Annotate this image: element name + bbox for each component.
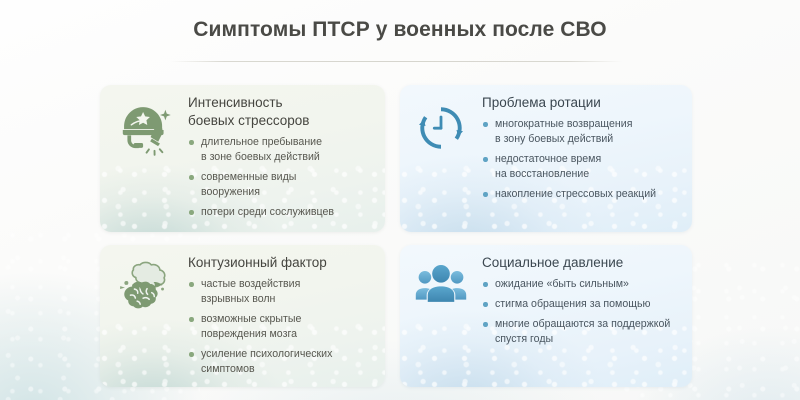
- card-bullet-list: ожидание «быть сильным» стигма обращения…: [482, 277, 684, 347]
- card-content: Социальное давление ожидание «быть сильн…: [482, 245, 692, 352]
- card-content: Проблема ротации многократные возвращени…: [482, 85, 692, 207]
- slide-header: Симптомы ПТСР у военных после СВО: [0, 0, 800, 70]
- bullet-item: частые воздействия взрывных волн: [188, 277, 377, 307]
- bullet-item: накопление стрессовых реакций: [482, 187, 684, 202]
- card-content: Контузионный фактор частые воздействия в…: [188, 245, 385, 382]
- card-content: Интенсивность боевых стрессоров длительн…: [188, 85, 385, 225]
- card-title: Контузионный фактор: [188, 254, 377, 272]
- card-title: Проблема ротации: [482, 94, 684, 112]
- clock-rotation-icon: [400, 85, 482, 153]
- title-divider: [170, 61, 622, 62]
- bullet-item: длительное пребывание в зоне боевых дейс…: [188, 135, 377, 165]
- bullet-item: стигма обращения за помощью: [482, 297, 684, 312]
- bullet-item: современные виды вооружения: [188, 170, 377, 200]
- bullet-item: возможные скрытые повреждения мозга: [188, 312, 377, 342]
- bullet-item: недостаточное время на восстановление: [482, 152, 684, 182]
- bullet-item: многократные возвращения в зону боевых д…: [482, 117, 684, 147]
- card-social-pressure[interactable]: Социальное давление ожидание «быть сильн…: [400, 245, 692, 387]
- card-title: Социальное давление: [482, 254, 684, 272]
- card-title: Интенсивность боевых стрессоров: [188, 94, 377, 130]
- helmet-bullet-icon: [100, 85, 188, 157]
- card-combat-stressors[interactable]: Интенсивность боевых стрессоров длительн…: [100, 85, 385, 232]
- bullet-item: усиление психологических симптомов: [188, 347, 377, 377]
- bullet-item: ожидание «быть сильным»: [482, 277, 684, 292]
- card-bullet-list: многократные возвращения в зону боевых д…: [482, 117, 684, 202]
- slide-canvas: Симптомы ПТСР у военных после СВО: [0, 0, 800, 400]
- page-title: Симптомы ПТСР у военных после СВО: [0, 18, 800, 42]
- card-rotation-problem[interactable]: Проблема ротации многократные возвращени…: [400, 85, 692, 232]
- bullet-item: многие обращаются за поддержкой спустя г…: [482, 317, 684, 347]
- people-group-icon: [400, 245, 482, 307]
- bullet-item: потери среди сослуживцев: [188, 205, 377, 220]
- brain-blast-icon: [100, 245, 188, 313]
- card-bullet-list: длительное пребывание в зоне боевых дейс…: [188, 135, 377, 220]
- card-bullet-list: частые воздействия взрывных волн возможн…: [188, 277, 377, 377]
- card-contusion-factor[interactable]: Контузионный фактор частые воздействия в…: [100, 245, 385, 387]
